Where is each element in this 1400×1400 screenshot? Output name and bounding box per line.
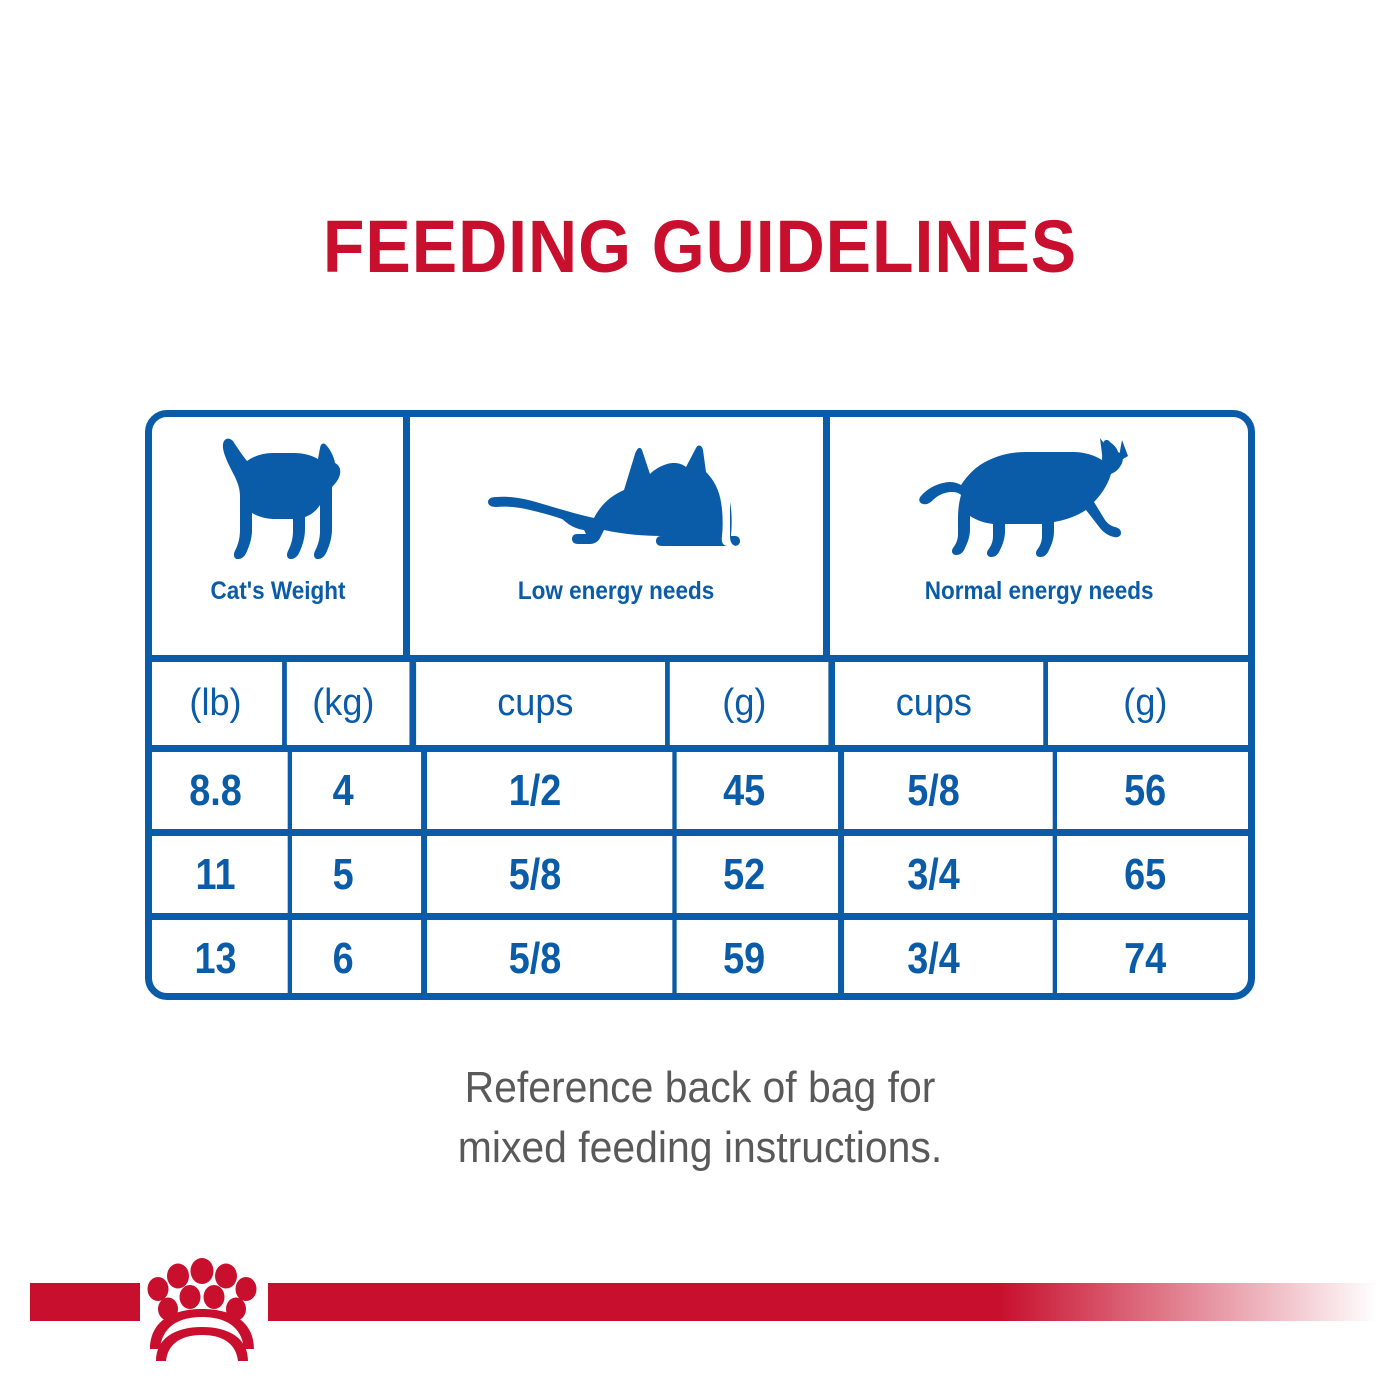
cell-weight-kg: 4 — [288, 752, 395, 829]
unit-header-grams-normal: (g) — [1043, 662, 1243, 745]
cell-low-grams: 52 — [672, 836, 811, 913]
table-header-band: Cat's Weight Low energy needs Normal ene… — [152, 417, 1248, 655]
table-row: 11 5 5/8 52 3/4 65 — [152, 829, 1248, 913]
note-line-1: Reference back of bag for — [49, 1058, 1351, 1118]
walking-cat-icon — [830, 417, 1248, 577]
cell-low-cups: 5/8 — [421, 920, 643, 997]
cell-normal-cups: 5/8 — [838, 752, 1023, 829]
header-group-label: Low energy needs — [518, 577, 714, 606]
table-row: 8.8 4 1/2 45 5/8 56 — [152, 745, 1248, 829]
brand-bar-right-segment — [268, 1283, 1378, 1321]
cell-normal-grams: 74 — [1053, 920, 1234, 997]
brand-bar-left-segment — [30, 1283, 140, 1321]
note-line-2: mixed feeding instructions. — [49, 1118, 1351, 1178]
cell-normal-grams: 65 — [1053, 836, 1234, 913]
cell-normal-grams: 56 — [1053, 752, 1234, 829]
table-row: 13 6 5/8 59 3/4 74 — [152, 913, 1248, 997]
header-group-cats-weight: Cat's Weight — [152, 417, 403, 655]
cell-weight-kg: 6 — [288, 920, 395, 997]
cell-low-grams: 45 — [672, 752, 811, 829]
cell-normal-cups: 3/4 — [838, 836, 1023, 913]
standing-cat-icon — [152, 417, 403, 577]
unit-header-cups-normal: cups — [828, 662, 1032, 745]
cell-weight-kg: 5 — [288, 836, 395, 913]
cell-weight-lb: 8.8 — [161, 752, 270, 829]
feeding-guidelines-table: Cat's Weight Low energy needs Normal ene… — [145, 410, 1255, 1000]
unit-header-row: (lb) (kg) cups (g) cups (g) — [152, 655, 1248, 745]
cell-weight-lb: 11 — [161, 836, 270, 913]
unit-header-lb: (lb) — [155, 662, 276, 745]
cell-low-grams: 59 — [672, 920, 811, 997]
cell-weight-lb: 13 — [161, 920, 270, 997]
mixed-feeding-note: Reference back of bag for mixed feeding … — [49, 1058, 1351, 1178]
royal-canin-crown-logo — [134, 1257, 270, 1367]
unit-header-kg: (kg) — [282, 662, 400, 745]
header-group-normal-energy: Normal energy needs — [823, 417, 1248, 655]
header-group-low-energy: Low energy needs — [403, 417, 823, 655]
unit-header-cups-low: cups — [409, 662, 654, 745]
cell-low-cups: 1/2 — [421, 752, 643, 829]
cell-normal-cups: 3/4 — [838, 920, 1023, 997]
brand-footer-bar — [0, 1283, 1400, 1321]
page-title: FEEDING GUIDELINES — [56, 204, 1344, 289]
header-group-label: Normal energy needs — [925, 577, 1154, 606]
lying-cat-icon — [410, 417, 823, 577]
unit-header-grams-low: (g) — [665, 662, 819, 745]
cell-low-cups: 5/8 — [421, 836, 643, 913]
header-group-label: Cat's Weight — [210, 577, 345, 606]
